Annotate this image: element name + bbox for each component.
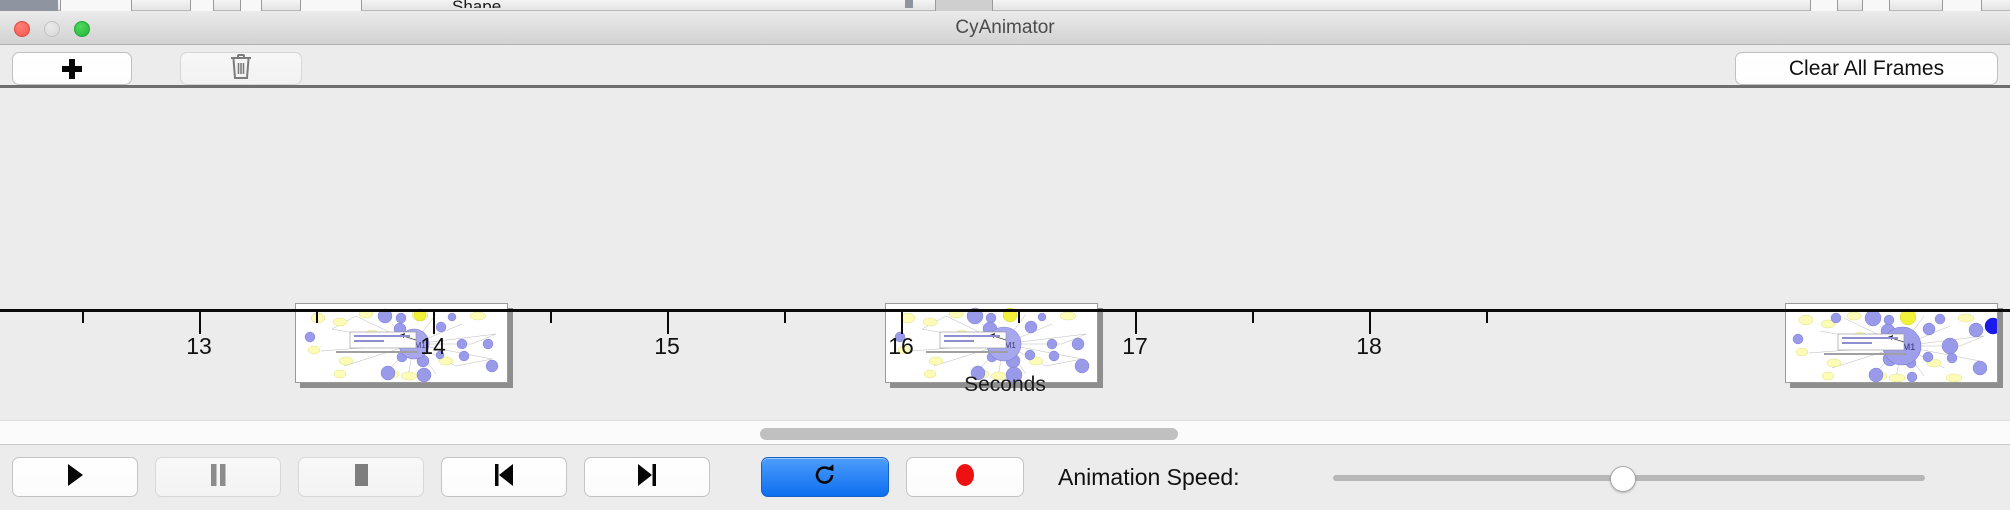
plus-icon (62, 59, 82, 79)
axis-tick-minor (1252, 312, 1254, 323)
window-title-bar: CyAnimator (0, 11, 2010, 45)
axis-tick-label: 16 (888, 333, 914, 360)
loop-icon (812, 462, 838, 493)
timeline-scrollbar-thumb[interactable] (760, 428, 1178, 440)
axis-tick-major (199, 312, 201, 334)
axis-tick-minor (1486, 312, 1488, 323)
clear-all-frames-button[interactable]: Clear All Frames (1735, 52, 1998, 85)
frame-toolbar: Clear All Frames (0, 45, 2010, 88)
background-window-tab (240, 0, 262, 11)
timeline-panel[interactable]: MCM1 (0, 91, 2010, 420)
play-icon (65, 463, 85, 492)
skip-back-icon (493, 463, 515, 492)
add-frame-button[interactable] (12, 52, 132, 85)
thumbnail-network-view: MCM1 (1785, 303, 1998, 383)
axis-tick-major (901, 312, 903, 334)
skip-forward-icon (636, 463, 658, 492)
timeline-scrollbar-track[interactable] (0, 420, 2010, 445)
background-window-tab (935, 0, 993, 11)
last-frame-button[interactable] (584, 457, 710, 497)
axis-tick-minor (784, 312, 786, 323)
background-window-tab (300, 0, 362, 11)
trash-icon (229, 53, 253, 85)
axis-tick-label: 13 (186, 333, 212, 360)
axis-tick-label: 18 (1356, 333, 1382, 360)
background-window-chrome (0, 0, 58, 11)
stop-icon (351, 463, 371, 492)
thumbnail-network-view: MCM1 (885, 303, 1098, 383)
background-window-tab (1810, 0, 1838, 11)
axis-tick-label: 15 (654, 333, 680, 360)
axis-tick-minor (316, 312, 318, 323)
background-window-tab (1942, 0, 1982, 11)
thumbnail-network-view: MCM1 (295, 303, 508, 383)
axis-tick-minor (82, 312, 84, 323)
axis-tick-major (433, 312, 435, 334)
background-window-label: Shape (452, 0, 501, 8)
animation-speed-label: Animation Speed: (1058, 457, 1240, 497)
axis-tick-label: 14 (420, 333, 446, 360)
delete-frame-button[interactable] (180, 52, 302, 85)
axis-tick-major (667, 312, 669, 334)
pause-button[interactable] (155, 457, 281, 497)
axis-tick-minor (1018, 312, 1020, 323)
timeline-axis-caption: Seconds (0, 373, 2010, 397)
animation-speed-slider-knob[interactable] (1610, 466, 1636, 492)
play-button[interactable] (12, 457, 138, 497)
background-window-strip: Shape (0, 0, 2010, 11)
stop-button[interactable] (298, 457, 424, 497)
background-window-tab (190, 0, 214, 11)
playback-control-bar: Animation Speed: (0, 446, 2010, 510)
background-window-marker (905, 0, 913, 8)
timeline-axis[interactable] (0, 309, 2010, 312)
axis-tick-major (1135, 312, 1137, 334)
window-title: CyAnimator (0, 11, 2010, 45)
axis-tick-major (1369, 312, 1371, 334)
first-frame-button[interactable] (441, 457, 567, 497)
background-window-tab (60, 0, 132, 11)
clear-all-frames-label: Clear All Frames (1789, 57, 1944, 81)
record-icon (953, 462, 977, 493)
axis-tick-label: 17 (1122, 333, 1148, 360)
loop-button[interactable] (761, 457, 889, 497)
axis-tick-minor (550, 312, 552, 323)
background-window-tab (1862, 0, 1890, 11)
record-button[interactable] (906, 457, 1024, 497)
pause-icon (208, 463, 228, 492)
